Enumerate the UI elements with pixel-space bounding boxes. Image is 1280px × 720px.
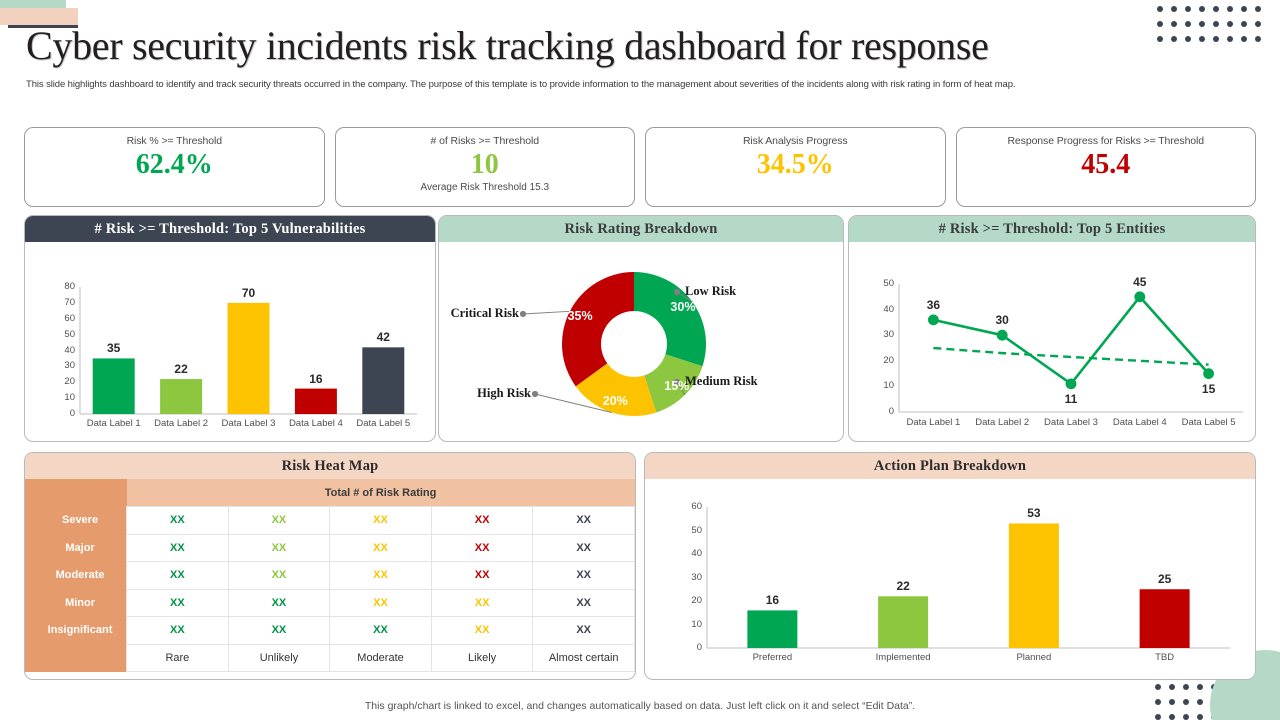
heat-map-row-header: Insignificant — [25, 617, 127, 645]
panel-risk-rating-breakdown[interactable]: Risk Rating Breakdown 30%15%20%35%Low Ri… — [438, 215, 844, 442]
donut-chart-risk-rating[interactable]: 30%15%20%35%Low RiskMedium RiskHigh Risk… — [439, 242, 843, 442]
decor-dot — [1155, 714, 1161, 720]
x-axis-category-label: Data Label 5 — [350, 418, 417, 429]
kpi-subtext: Average Risk Threshold 15.3 — [420, 182, 549, 193]
bar[interactable] — [228, 303, 270, 414]
panel-action-plan-breakdown[interactable]: Action Plan Breakdown 010203040506016Pre… — [644, 452, 1256, 680]
panel-risk-heat-map[interactable]: Risk Heat Map Total # of Risk RatingSeve… — [24, 452, 636, 680]
kpi-card-risk-percent[interactable]: Risk % >= Threshold 62.4% — [24, 127, 325, 207]
panel-title: # Risk >= Threshold: Top 5 Entities — [849, 216, 1255, 242]
decor-dot — [1157, 36, 1163, 42]
donut-category-label: Low Risk — [685, 284, 736, 299]
x-axis-category-label: Data Label 1 — [80, 418, 147, 429]
heat-map-row-header: Severe — [25, 507, 127, 535]
decor-dot — [1157, 21, 1163, 27]
y-axis-tick-label: 30 — [869, 329, 894, 340]
y-axis-tick-label: 0 — [50, 408, 75, 419]
callout-bullet — [674, 289, 680, 295]
heat-map-cell[interactable]: XX — [533, 507, 635, 535]
bar-value-label: 35 — [84, 341, 144, 355]
donut-slice[interactable] — [562, 272, 634, 386]
heat-map-column-footer: Moderate — [330, 644, 432, 672]
decor-dot — [1255, 36, 1261, 42]
heat-map-cell[interactable]: XX — [533, 534, 635, 562]
bar-value-label: 16 — [286, 372, 346, 386]
kpi-card-response-progress[interactable]: Response Progress for Risks >= Threshold… — [956, 127, 1257, 207]
x-axis-category-label: Data Label 2 — [147, 418, 214, 429]
heat-map-cell[interactable]: XX — [533, 562, 635, 590]
decor-dot — [1199, 21, 1205, 27]
footer-note: This graph/chart is linked to excel, and… — [0, 700, 1280, 712]
decor-dot — [1241, 36, 1247, 42]
heat-map-row-header: Major — [25, 534, 127, 562]
data-point-value-label: 36 — [903, 298, 963, 312]
heat-map-cell[interactable]: XX — [228, 534, 330, 562]
decor-dot — [1241, 21, 1247, 27]
panel-title: # Risk >= Threshold: Top 5 Vulnerabiliti… — [25, 216, 435, 242]
bar-chart-action-plan[interactable]: 010203040506016Preferred22Implemented53P… — [645, 479, 1255, 680]
heat-map-cell[interactable]: XX — [330, 534, 432, 562]
heat-map-row-header: Moderate — [25, 562, 127, 590]
y-axis-tick-label: 20 — [677, 595, 702, 606]
donut-slice-percent-label: 30% — [658, 300, 708, 314]
bar-value-label: 42 — [353, 330, 413, 344]
y-axis-tick-label: 30 — [677, 572, 702, 583]
heat-map-cell[interactable]: XX — [127, 507, 229, 535]
y-axis-tick-label: 0 — [677, 642, 702, 653]
heat-map-cell[interactable]: XX — [330, 617, 432, 645]
decor-dot — [1185, 21, 1191, 27]
kpi-title: Response Progress for Risks >= Threshold — [1007, 135, 1204, 147]
kpi-value: 10 — [471, 149, 499, 181]
y-axis-tick-label: 30 — [50, 360, 75, 371]
data-point-marker[interactable] — [997, 330, 1008, 341]
heat-map-row: SevereXXXXXXXXXX — [25, 507, 635, 535]
page-title: Cyber security incidents risk tracking d… — [26, 22, 989, 69]
kpi-card-number-of-risks[interactable]: # of Risks >= Threshold 10 Average Risk … — [335, 127, 636, 207]
x-axis-category-label: Planned — [969, 652, 1100, 663]
decor-dot — [1213, 21, 1219, 27]
heat-map-cell[interactable]: XX — [127, 562, 229, 590]
callout-bullet — [532, 391, 538, 397]
donut-category-label: High Risk — [439, 386, 531, 401]
heat-map-table[interactable]: Total # of Risk RatingSevereXXXXXXXXXXMa… — [25, 479, 635, 672]
callout-bullet — [520, 311, 526, 317]
x-axis-category-label: Implemented — [838, 652, 969, 663]
x-axis-category-label: Data Label 3 — [215, 418, 282, 429]
decor-dot — [1169, 714, 1175, 720]
heat-map-cell[interactable]: XX — [431, 534, 533, 562]
y-axis-tick-label: 0 — [869, 406, 894, 417]
decor-dot — [1213, 6, 1219, 12]
decor-dot — [1197, 684, 1203, 690]
y-axis-tick-label: 20 — [50, 376, 75, 387]
decor-dot — [1255, 6, 1261, 12]
decor-dot — [1227, 36, 1233, 42]
data-point-value-label: 45 — [1110, 275, 1170, 289]
x-axis-category-label: Data Label 4 — [282, 418, 349, 429]
panel-top-5-entities[interactable]: # Risk >= Threshold: Top 5 Entities 0102… — [848, 215, 1256, 442]
slide-root: Cyber security incidents risk tracking d… — [0, 0, 1280, 720]
heat-map-cell[interactable]: XX — [330, 507, 432, 535]
y-axis-tick-label: 50 — [677, 525, 702, 536]
y-axis-tick-label: 70 — [50, 297, 75, 308]
decor-dot-grid-top-right — [1157, 6, 1269, 51]
heat-map-cell[interactable]: XX — [431, 617, 533, 645]
heat-map-cell[interactable]: XX — [431, 562, 533, 590]
x-axis-category-label: TBD — [1099, 652, 1230, 663]
data-point-value-label: 11 — [1041, 392, 1101, 406]
y-axis-tick-label: 10 — [869, 380, 894, 391]
bar-value-label: 16 — [742, 593, 802, 607]
panel-title: Risk Rating Breakdown — [439, 216, 843, 242]
heat-map-footer-row: RareUnlikelyModerateLikelyAlmost certain — [25, 644, 635, 672]
heat-map-column-footer: Almost certain — [533, 644, 635, 672]
donut-slice-percent-label: 20% — [590, 394, 640, 408]
data-point-marker[interactable] — [1066, 378, 1077, 389]
y-axis-tick-label: 10 — [677, 619, 702, 630]
donut-category-label: Critical Risk — [439, 306, 519, 321]
bar-value-label: 53 — [1004, 506, 1064, 520]
donut-slice-percent-label: 35% — [555, 309, 605, 323]
bar-chart-vulnerabilities[interactable]: 0102030405060708035Data Label 122Data La… — [25, 242, 435, 442]
bar[interactable] — [295, 389, 337, 414]
decor-dot — [1227, 6, 1233, 12]
decor-dot — [1213, 36, 1219, 42]
kpi-title: # of Risks >= Threshold — [431, 135, 539, 147]
kpi-value: 34.5% — [757, 149, 834, 181]
heat-map-cell[interactable]: XX — [330, 562, 432, 590]
bar-value-label: 22 — [151, 362, 211, 376]
y-axis-tick-label: 50 — [869, 278, 894, 289]
decor-dot — [1185, 36, 1191, 42]
y-axis-tick-label: 60 — [50, 313, 75, 324]
heat-map-row-header: Minor — [25, 589, 127, 617]
decor-dot — [1255, 21, 1261, 27]
bar[interactable] — [878, 596, 928, 648]
heat-map-banner-row: Total # of Risk Rating — [25, 479, 635, 507]
y-axis-tick-label: 10 — [50, 392, 75, 403]
kpi-value: 62.4% — [136, 149, 213, 181]
decor-dot — [1171, 21, 1177, 27]
bar-value-label: 22 — [873, 579, 933, 593]
y-axis-tick-label: 20 — [869, 355, 894, 366]
y-axis-tick-label: 40 — [50, 345, 75, 356]
heat-map-cell[interactable]: XX — [127, 534, 229, 562]
data-point-marker[interactable] — [928, 314, 939, 325]
bar-value-label: 70 — [219, 286, 279, 300]
bar[interactable] — [1140, 589, 1190, 648]
heat-map-cell[interactable]: XX — [431, 589, 533, 617]
decor-dot — [1171, 6, 1177, 12]
x-axis-category-label: Preferred — [707, 652, 838, 663]
decor-dot — [1169, 684, 1175, 690]
heat-map-column-footer: Unlikely — [228, 644, 330, 672]
heat-map-column-footer: Rare — [127, 644, 229, 672]
kpi-card-row: Risk % >= Threshold 62.4% # of Risks >= … — [24, 127, 1256, 207]
data-point-value-label: 30 — [972, 313, 1032, 327]
heat-map-row: ModerateXXXXXXXXXX — [25, 562, 635, 590]
heat-map-row: MinorXXXXXXXXXX — [25, 589, 635, 617]
panel-title: Risk Heat Map — [25, 453, 635, 479]
kpi-title: Risk % >= Threshold — [127, 135, 222, 147]
heat-map-cell[interactable]: XX — [330, 589, 432, 617]
heat-map-corner-cell — [25, 644, 127, 672]
kpi-card-risk-analysis-progress[interactable]: Risk Analysis Progress 34.5% — [645, 127, 946, 207]
x-axis-category-label: Data Label 2 — [968, 417, 1037, 428]
y-axis-tick-label: 40 — [869, 304, 894, 315]
line-chart-svg — [849, 242, 1255, 442]
decor-dot — [1183, 684, 1189, 690]
heat-map-corner-cell — [25, 479, 127, 507]
heat-map-cell[interactable]: XX — [533, 617, 635, 645]
y-axis-tick-label: 80 — [50, 281, 75, 292]
heat-map-row: InsignificantXXXXXXXXXX — [25, 617, 635, 645]
data-line[interactable] — [933, 297, 1208, 384]
y-axis-tick-label: 60 — [677, 501, 702, 512]
decor-dot — [1171, 36, 1177, 42]
y-axis-tick-label: 50 — [50, 329, 75, 340]
heat-map-body: Total # of Risk RatingSevereXXXXXXXXXXMa… — [25, 479, 635, 680]
decor-dot — [1199, 6, 1205, 12]
bar-value-label: 25 — [1135, 572, 1195, 586]
bar[interactable] — [362, 347, 404, 414]
decor-dot — [1227, 21, 1233, 27]
trend-line — [933, 348, 1208, 365]
page-subtitle: This slide highlights dashboard to ident… — [26, 78, 1254, 92]
decor-dot — [1185, 6, 1191, 12]
kpi-title: Risk Analysis Progress — [743, 135, 848, 147]
x-axis-category-label: Data Label 5 — [1174, 417, 1243, 428]
data-point-value-label: 15 — [1179, 382, 1239, 396]
heat-map-row: MajorXXXXXXXXXX — [25, 534, 635, 562]
heat-map-banner-label: Total # of Risk Rating — [127, 479, 635, 507]
data-point-marker[interactable] — [1203, 368, 1214, 379]
decor-dot — [1155, 684, 1161, 690]
y-axis-tick-label: 40 — [677, 548, 702, 559]
x-axis-category-label: Data Label 3 — [1037, 417, 1106, 428]
heat-map-cell[interactable]: XX — [431, 507, 533, 535]
panel-title: Action Plan Breakdown — [645, 453, 1255, 479]
heat-map-cell[interactable]: XX — [228, 617, 330, 645]
panel-top-5-vulnerabilities[interactable]: # Risk >= Threshold: Top 5 Vulnerabiliti… — [24, 215, 436, 442]
bar[interactable] — [747, 610, 797, 648]
x-axis-category-label: Data Label 4 — [1105, 417, 1174, 428]
bar[interactable] — [160, 379, 202, 414]
decor-dot — [1241, 6, 1247, 12]
decor-dot — [1197, 714, 1203, 720]
donut-category-label: Medium Risk — [685, 374, 758, 389]
bar[interactable] — [1009, 523, 1059, 648]
line-chart-entities[interactable]: 0102030405036Data Label 130Data Label 21… — [849, 242, 1255, 442]
data-point-marker[interactable] — [1134, 291, 1145, 302]
heat-map-cell[interactable]: XX — [127, 589, 229, 617]
x-axis-category-label: Data Label 1 — [899, 417, 968, 428]
donut-chart-svg — [439, 242, 843, 442]
heat-map-cell[interactable]: XX — [228, 589, 330, 617]
decor-dot — [1157, 6, 1163, 12]
heat-map-column-footer: Likely — [431, 644, 533, 672]
heat-map-cell[interactable]: XX — [228, 562, 330, 590]
heat-map-cell[interactable]: XX — [228, 507, 330, 535]
decor-dot — [1199, 36, 1205, 42]
heat-map-cell[interactable]: XX — [533, 589, 635, 617]
kpi-value: 45.4 — [1081, 149, 1130, 181]
bar[interactable] — [93, 358, 135, 414]
heat-map-cell[interactable]: XX — [127, 617, 229, 645]
decor-dot — [1183, 714, 1189, 720]
